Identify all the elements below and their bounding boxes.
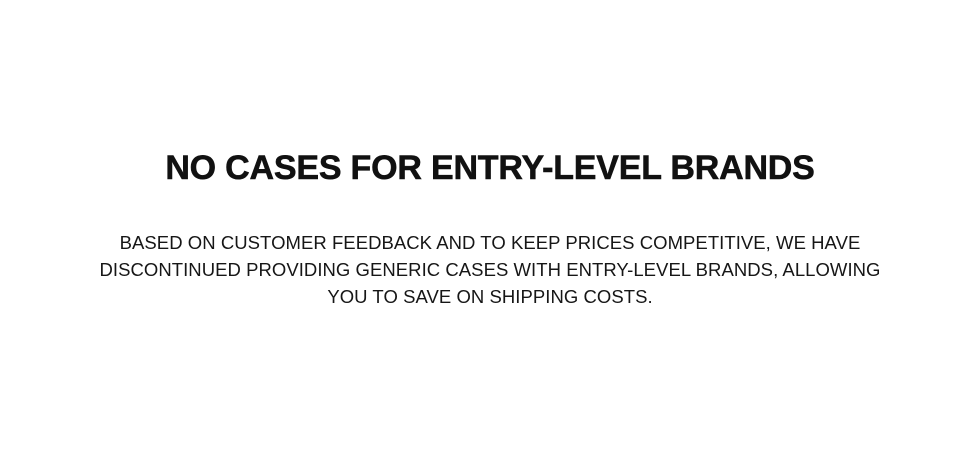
promo-banner-section: NO CASES FOR ENTRY-LEVEL BRANDS BASED ON… [0, 0, 980, 450]
promo-description: BASED ON CUSTOMER FEEDBACK AND TO KEEP P… [95, 184, 885, 310]
promo-content-wrapper: NO CASES FOR ENTRY-LEVEL BRANDS BASED ON… [50, 152, 930, 310]
promo-heading: NO CASES FOR ENTRY-LEVEL BRANDS [165, 152, 814, 184]
